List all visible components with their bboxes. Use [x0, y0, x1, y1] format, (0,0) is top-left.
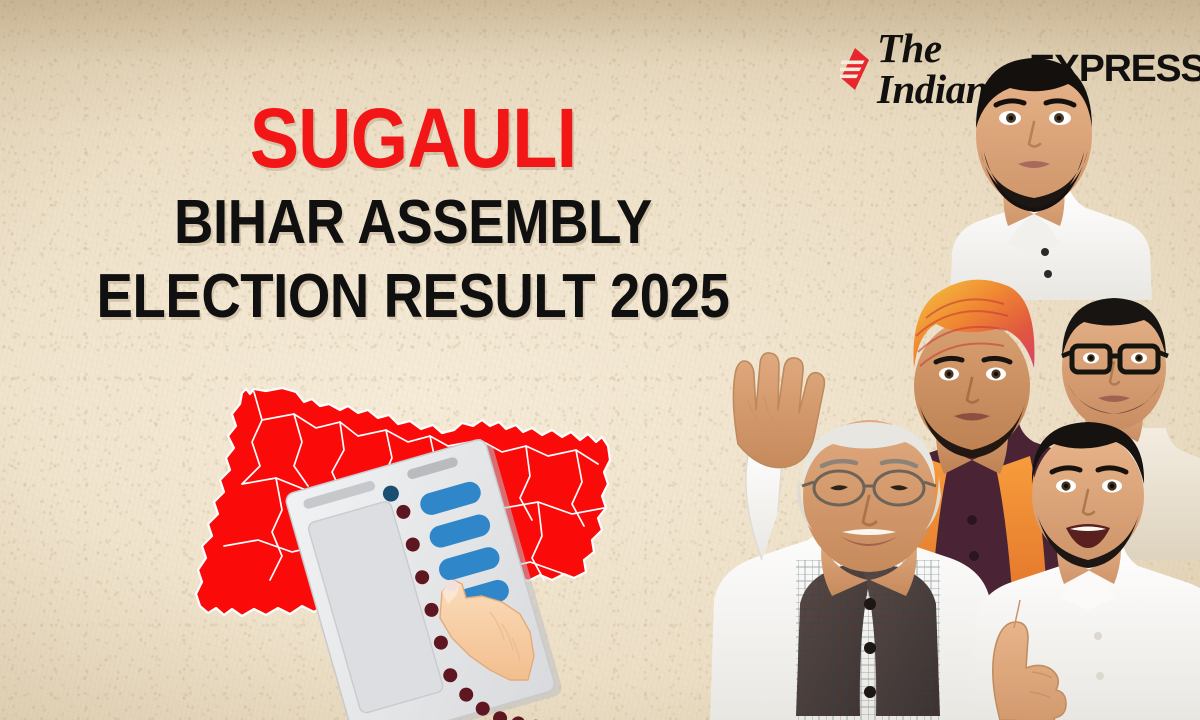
constituency-name: SUGAULI — [50, 96, 777, 180]
photo-chirag-paswan — [950, 58, 1152, 300]
headline-line-3: ELECTION RESULT 2025 — [50, 266, 777, 328]
bihar-map-graphic — [190, 380, 660, 680]
leaders-photo-collage — [700, 0, 1200, 720]
headline-line-2: BIHAR ASSEMBLY — [50, 192, 777, 254]
election-result-banner: The Indian EXPRESS SUGAULI BIHAR ASSEMBL… — [0, 0, 1200, 720]
